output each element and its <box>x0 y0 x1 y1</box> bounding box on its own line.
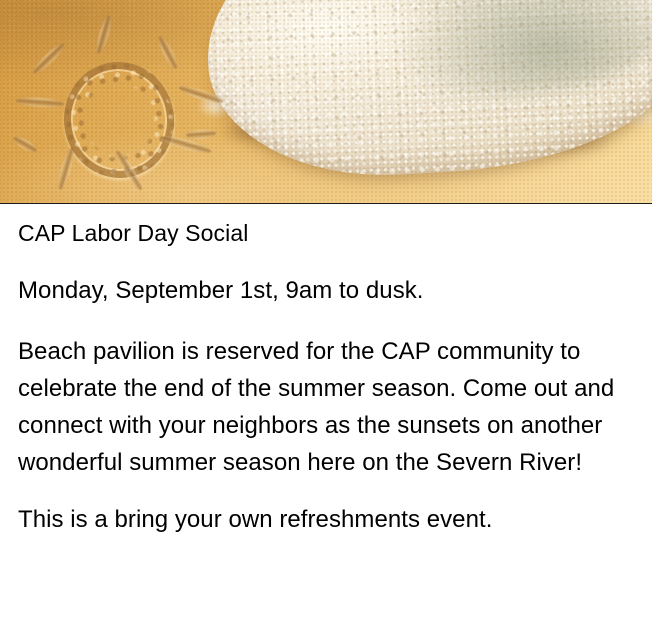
event-title: CAP Labor Day Social <box>18 218 632 248</box>
sun-ray <box>178 83 225 106</box>
beach-photo-canvas <box>0 0 652 203</box>
sun-ray <box>186 129 217 140</box>
sun-ray <box>156 34 181 70</box>
sun-ray <box>56 146 77 191</box>
sun-ray <box>16 96 65 108</box>
event-date-time: Monday, September 1st, 9am to dusk. <box>18 272 632 309</box>
event-description: Beach pavilion is reserved for the CAP c… <box>18 333 632 481</box>
hero-beach-photo <box>0 0 652 204</box>
event-flyer-page: CAP Labor Day Social Monday, September 1… <box>0 0 652 624</box>
sun-circle <box>57 56 180 185</box>
sun-ray <box>31 41 67 77</box>
sun-drawn-in-sand-icon <box>10 24 242 202</box>
event-closing-note: This is a bring your own refreshments ev… <box>18 501 632 538</box>
event-details: CAP Labor Day Social Monday, September 1… <box>0 204 652 538</box>
sun-ray <box>11 134 38 155</box>
